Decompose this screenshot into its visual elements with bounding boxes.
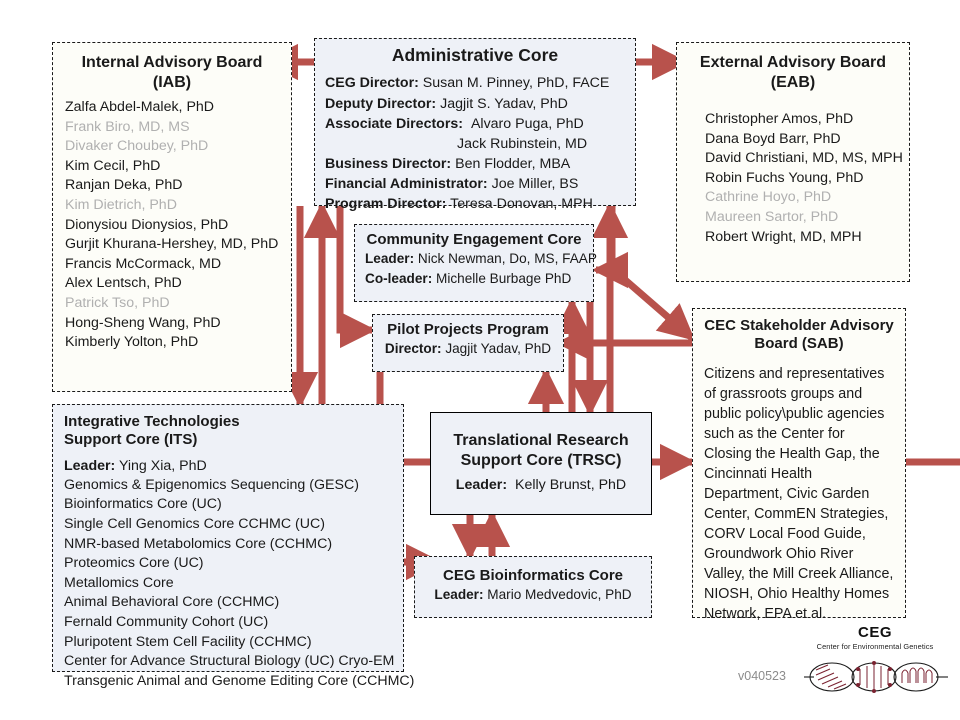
- its-leader-row: Leader: Ying Xia, PhD: [64, 456, 392, 476]
- community-engagement-core-box: Community Engagement Core Leader: Nick N…: [354, 224, 594, 302]
- pilot-row: Director: Jagjit Yadav, PhD: [383, 339, 553, 358]
- admin-core-row: CEG Director: Susan M. Pinney, PhD, FACE: [325, 73, 625, 93]
- admin-core-row-label: Associate Directors:: [325, 116, 463, 132]
- iab-member: Kimberly Yolton, PhD: [65, 333, 279, 353]
- its-facility: Genomics & Epigenomics Sequencing (GESC): [64, 476, 392, 496]
- eab-member: Christopher Amos, PhD: [705, 110, 897, 130]
- its-leader-value: Ying Xia, PhD: [119, 458, 207, 474]
- ceg-logo-subtitle: Center for Environmental Genetics: [800, 642, 950, 651]
- admin-core-row: Business Director: Ben Flodder, MBA: [325, 154, 625, 174]
- org-chart-canvas: Internal Advisory Board (IAB) Zalfa Abde…: [0, 0, 960, 720]
- admin-core-row-value: Ben Flodder, MBA: [455, 156, 570, 172]
- pilot-row-value: Jagjit Yadav, PhD: [445, 341, 551, 356]
- eab-member: Dana Boyd Barr, PhD: [705, 130, 897, 150]
- admin-core-row-label: Deputy Director:: [325, 96, 436, 112]
- its-facility: Pluripotent Stem Cell Facility (CCHMC): [64, 633, 392, 653]
- ceg-logo: CEG Center for Environmental Genetics: [800, 624, 950, 706]
- its-facility: Transgenic Animal and Genome Editing Cor…: [64, 672, 392, 692]
- bioinf-title: CEG Bioinformatics Core: [425, 567, 641, 585]
- admin-core-row-value: Teresa Donovan, MPH: [450, 196, 593, 212]
- iab-member: Kim Dietrich, PhD: [65, 196, 279, 216]
- iab-member: Hong-Sheng Wang, PhD: [65, 314, 279, 334]
- admin-core-row: Financial Administrator: Joe Miller, BS: [325, 174, 625, 194]
- admin-core-row-label: Financial Administrator:: [325, 176, 488, 192]
- eab-member: Robert Wright, MD, MPH: [705, 228, 897, 248]
- trsc-title-line1: Translational Research: [441, 431, 641, 451]
- cec-stakeholder-advisory-board-box: CEC Stakeholder Advisory Board (SAB) Cit…: [692, 308, 906, 618]
- trsc-title-line2: Support Core (TRSC): [441, 451, 641, 471]
- eab-title-line1: External Advisory Board: [689, 53, 897, 73]
- eab-member-list: Christopher Amos, PhD Dana Boyd Barr, Ph…: [689, 110, 897, 247]
- admin-core-row: Deputy Director: Jagjit S. Yadav, PhD: [325, 94, 625, 114]
- cec-row-value: Michelle Burbage PhD: [436, 271, 571, 286]
- iab-member-list: Zalfa Abdel-Malek, PhD Frank Biro, MD, M…: [65, 98, 279, 353]
- its-facility: Fernald Community Cohort (UC): [64, 613, 392, 633]
- bioinf-leader-value: Mario Medvedovic, PhD: [487, 587, 631, 602]
- eab-member: Cathrine Hoyo, PhD: [705, 188, 897, 208]
- admin-core-row-value: Joe Miller, BS: [492, 176, 579, 192]
- its-facility: Metallomics Core: [64, 574, 392, 594]
- cec-row: Leader: Nick Newman, Do, MS, FAAP: [365, 249, 583, 268]
- its-leader-label: Leader:: [64, 458, 115, 474]
- iab-member: Francis McCormack, MD: [65, 255, 279, 275]
- sab-title-line2: Board (SAB): [704, 335, 894, 353]
- iab-member: Patrick Tso, PhD: [65, 294, 279, 314]
- bioinf-leader-label: Leader:: [434, 587, 483, 602]
- ceg-logo-acronym: CEG: [800, 624, 950, 641]
- dna-helix-icon: [800, 653, 950, 701]
- eab-member: David Christiani, MD, MS, MPH: [705, 149, 897, 169]
- ceg-bioinformatics-core-box: CEG Bioinformatics Core Leader: Mario Me…: [414, 556, 652, 618]
- iab-title-line2: (IAB): [65, 73, 279, 93]
- integrative-technologies-support-core-box: Integrative Technologies Support Core (I…: [52, 404, 404, 672]
- version-label: v040523: [738, 669, 786, 683]
- trsc-leader-value: Kelly Brunst, PhD: [515, 477, 626, 493]
- pilot-projects-program-box: Pilot Projects Program Director: Jagjit …: [372, 314, 564, 372]
- iab-title-line1: Internal Advisory Board: [65, 53, 279, 73]
- its-facility: Bioinformatics Core (UC): [64, 495, 392, 515]
- its-facility: Animal Behavioral Core (CCHMC): [64, 593, 392, 613]
- eab-member: Maureen Sartor, PhD: [705, 208, 897, 228]
- its-facility: Single Cell Genomics Core CCHMC (UC): [64, 515, 392, 535]
- pilot-title: Pilot Projects Program: [383, 321, 553, 339]
- cec-row: Co-leader: Michelle Burbage PhD: [365, 269, 583, 288]
- iab-member: Zalfa Abdel-Malek, PhD: [65, 98, 279, 118]
- cec-row-value: Nick Newman, Do, MS, FAAP: [418, 251, 597, 266]
- admin-core-row-value: Jack Rubinstein, MD: [457, 136, 587, 152]
- its-title-line1: Integrative Technologies: [64, 413, 392, 431]
- eab-title-line2: (EAB): [689, 73, 897, 93]
- internal-advisory-board-box: Internal Advisory Board (IAB) Zalfa Abde…: [52, 42, 292, 392]
- its-title-line2: Support Core (ITS): [64, 431, 392, 449]
- its-facility: NMR-based Metabolomics Core (CCHMC): [64, 535, 392, 555]
- administrative-core-box: Administrative Core CEG Director: Susan …: [314, 38, 636, 206]
- trsc-leader-label: Leader:: [456, 477, 507, 493]
- admin-core-row-label: CEG Director:: [325, 75, 419, 91]
- admin-core-row: Jack Rubinstein, MD: [325, 134, 625, 154]
- cec-row-label: Co-leader:: [365, 271, 432, 286]
- eab-member: Robin Fuchs Young, PhD: [705, 169, 897, 189]
- admin-core-row-label: Program Director:: [325, 196, 446, 212]
- its-facility-list: Genomics & Epigenomics Sequencing (GESC)…: [64, 476, 392, 692]
- admin-core-row-label: Business Director:: [325, 156, 451, 172]
- iab-member: Dionysiou Dionysios, PhD: [65, 216, 279, 236]
- sab-body-text: Citizens and representatives of grassroo…: [704, 364, 894, 624]
- admin-core-row: Program Director: Teresa Donovan, MPH: [325, 194, 625, 214]
- external-advisory-board-box: External Advisory Board (EAB) Christophe…: [676, 42, 910, 282]
- iab-member: Frank Biro, MD, MS: [65, 118, 279, 138]
- trsc-leader-row: Leader: Kelly Brunst, PhD: [441, 475, 641, 495]
- translational-research-support-core-box: Translational Research Support Core (TRS…: [430, 412, 652, 515]
- admin-core-roster: CEG Director: Susan M. Pinney, PhD, FACE…: [325, 73, 625, 214]
- iab-member: Divaker Choubey, PhD: [65, 137, 279, 157]
- iab-member: Gurjit Khurana-Hershey, MD, PhD: [65, 235, 279, 255]
- cec-title: Community Engagement Core: [365, 231, 583, 249]
- admin-core-row-value: Susan M. Pinney, PhD, FACE: [423, 75, 610, 91]
- iab-member: Ranjan Deka, PhD: [65, 176, 279, 196]
- admin-core-row: Associate Directors: Alvaro Puga, PhD: [325, 114, 625, 134]
- cec-row-label: Leader:: [365, 251, 414, 266]
- admin-core-row-value: Alvaro Puga, PhD: [471, 116, 584, 132]
- its-facility: Proteomics Core (UC): [64, 554, 392, 574]
- bioinf-leader-row: Leader: Mario Medvedovic, PhD: [425, 585, 641, 604]
- admin-core-row-value: Jagjit S. Yadav, PhD: [440, 96, 568, 112]
- admin-core-title: Administrative Core: [325, 45, 625, 66]
- pilot-row-label: Director:: [385, 341, 442, 356]
- arrow-admin-to-cec: [596, 206, 612, 270]
- iab-member: Alex Lentsch, PhD: [65, 274, 279, 294]
- its-facility: Center for Advance Structural Biology (U…: [64, 652, 392, 672]
- sab-title-line1: CEC Stakeholder Advisory: [704, 317, 894, 335]
- iab-member: Kim Cecil, PhD: [65, 157, 279, 177]
